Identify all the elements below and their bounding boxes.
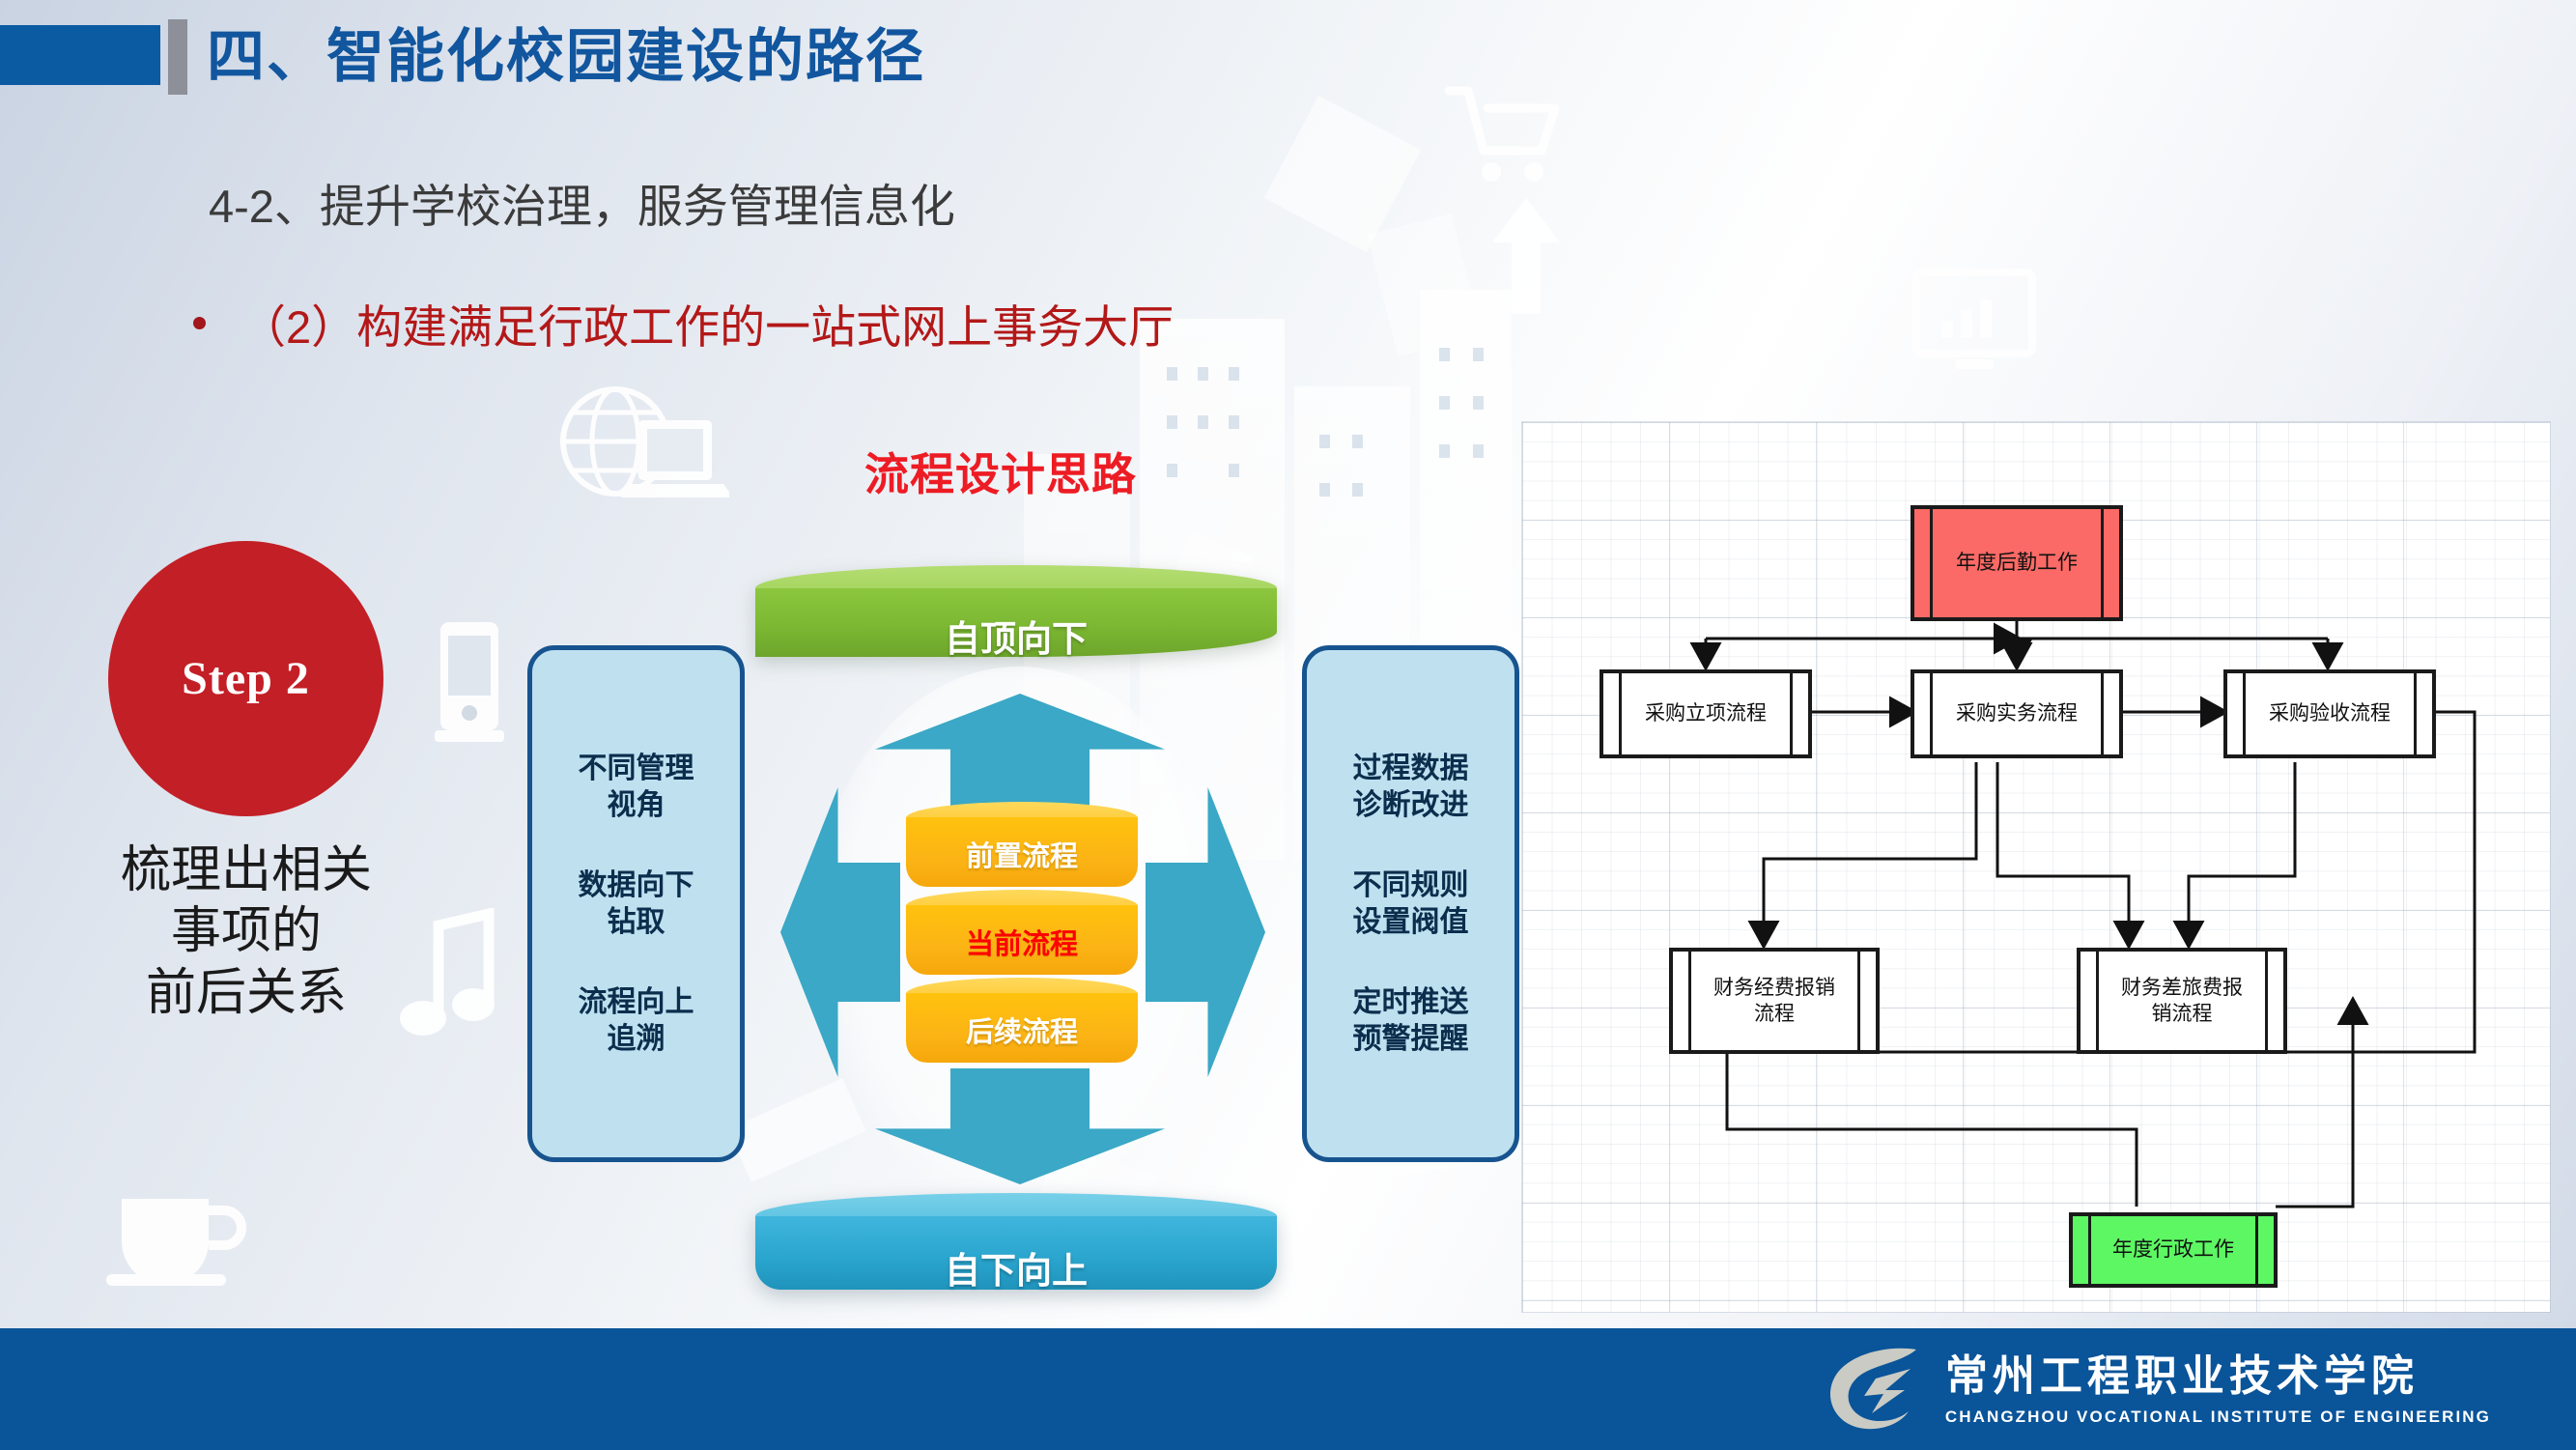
shopping-cart-icon	[1443, 83, 1559, 189]
bullet-dot-icon	[193, 317, 206, 329]
flow-node-label: 采购实务流程	[1956, 700, 2078, 726]
monitor-chart-icon	[1912, 269, 2036, 377]
paper-shard	[1264, 96, 1421, 252]
bottom-up-cylinder: 自下向上	[755, 1193, 1277, 1290]
institution-logo: 常州工程职业技术学院 CHANGZHOU VOCATIONAL INSTITUT…	[1816, 1340, 2491, 1440]
header-accent-block	[0, 25, 160, 85]
process-label-following: 后续流程	[906, 1009, 1138, 1050]
step-badge: Step 2	[108, 541, 383, 816]
process-stack: 前置流程 当前流程 后续流程	[906, 802, 1138, 1066]
bullet-row: （2）构建满足行政工作的一站式网上事务大厅	[193, 290, 1174, 356]
right-info-box: 过程数据 诊断改进 不同规则 设置阀值 定时推送 预警提醒	[1302, 645, 1519, 1162]
page-title: 四、智能化校园建设的路径	[207, 19, 925, 95]
flow-node-annual-administration[interactable]: 年度行政工作	[2069, 1212, 2278, 1288]
step-caption-line-1: 梳理出相关	[53, 840, 439, 901]
paper-shard	[727, 1078, 865, 1182]
left-info-item-1: 不同管理 视角	[579, 751, 694, 823]
right-info-item-1: 过程数据 诊断改进	[1353, 751, 1469, 823]
right-info-item-2: 不同规则 设置阀值	[1353, 867, 1469, 940]
left-info-item-2: 数据向下 钻取	[579, 867, 694, 940]
institution-name-en: CHANGZHOU VOCATIONAL INSTITUTE OF ENGINE…	[1945, 1407, 2491, 1427]
page-subtitle: 4-2、提升学校治理，服务管理信息化	[209, 169, 955, 236]
top-down-cylinder: 自顶向下	[755, 565, 1277, 657]
flow-node-procurement-initiation[interactable]: 采购立项流程	[1599, 669, 1812, 758]
top-down-label: 自顶向下	[755, 610, 1277, 662]
flow-node-procurement-acceptance[interactable]: 采购验收流程	[2223, 669, 2436, 758]
flow-design-title: 流程设计思路	[864, 440, 1137, 503]
step-caption: 梳理出相关 事项的 前后关系	[53, 840, 439, 1024]
process-label-preceding: 前置流程	[906, 834, 1138, 874]
bottom-up-label: 自下向上	[755, 1241, 1277, 1294]
paper-shard	[1368, 213, 1483, 356]
flowchart-panel: 年度后勤工作 采购立项流程 采购实务流程 采购验收流程 财务经费报销 流程 财务…	[1522, 422, 2550, 1312]
flow-node-label: 年度后勤工作	[1956, 550, 2078, 576]
globe-laptop-icon	[555, 382, 729, 536]
header-accent-bar	[168, 19, 187, 95]
process-label-current: 当前流程	[906, 922, 1138, 962]
left-info-box: 不同管理 视角 数据向下 钻取 流程向上 追溯	[527, 645, 745, 1162]
coffee-cup-icon	[104, 1174, 249, 1290]
school-emblem-icon	[1816, 1340, 1928, 1440]
mobile-phone-icon	[435, 618, 504, 744]
flow-node-procurement-practice[interactable]: 采购实务流程	[1911, 669, 2123, 758]
institution-name: 常州工程职业技术学院 CHANGZHOU VOCATIONAL INSTITUT…	[1945, 1353, 2491, 1426]
up-arrow-watermark-icon	[1492, 198, 1560, 314]
flow-node-label: 年度行政工作	[2112, 1237, 2234, 1263]
bullet-text: （2）构建满足行政工作的一站式网上事务大厅	[241, 290, 1174, 356]
institution-name-cn: 常州工程职业技术学院	[1945, 1353, 2491, 1400]
process-cylinder-current: 当前流程	[906, 890, 1138, 975]
flow-node-expense-reimbursement[interactable]: 财务经费报销 流程	[1669, 948, 1880, 1054]
flow-node-label: 采购验收流程	[2269, 700, 2391, 726]
flow-node-annual-logistics[interactable]: 年度后勤工作	[1911, 505, 2123, 621]
step-caption-line-3: 前后关系	[53, 963, 439, 1024]
footer-bar: 常州工程职业技术学院 CHANGZHOU VOCATIONAL INSTITUT…	[0, 1328, 2576, 1450]
right-info-item-3: 定时推送 预警提醒	[1353, 984, 1469, 1057]
flow-node-label: 采购立项流程	[1645, 700, 1767, 726]
flow-node-label: 财务差旅费报 销流程	[2121, 975, 2243, 1028]
process-cylinder-following: 后续流程	[906, 978, 1138, 1063]
left-info-item-3: 流程向上 追溯	[579, 984, 694, 1057]
step-badge-label: Step 2	[182, 652, 310, 705]
step-caption-line-2: 事项的	[53, 901, 439, 962]
flow-node-travel-reimbursement[interactable]: 财务差旅费报 销流程	[2077, 948, 2287, 1054]
process-cylinder-preceding: 前置流程	[906, 802, 1138, 887]
flow-node-label: 财务经费报销 流程	[1713, 975, 1835, 1028]
